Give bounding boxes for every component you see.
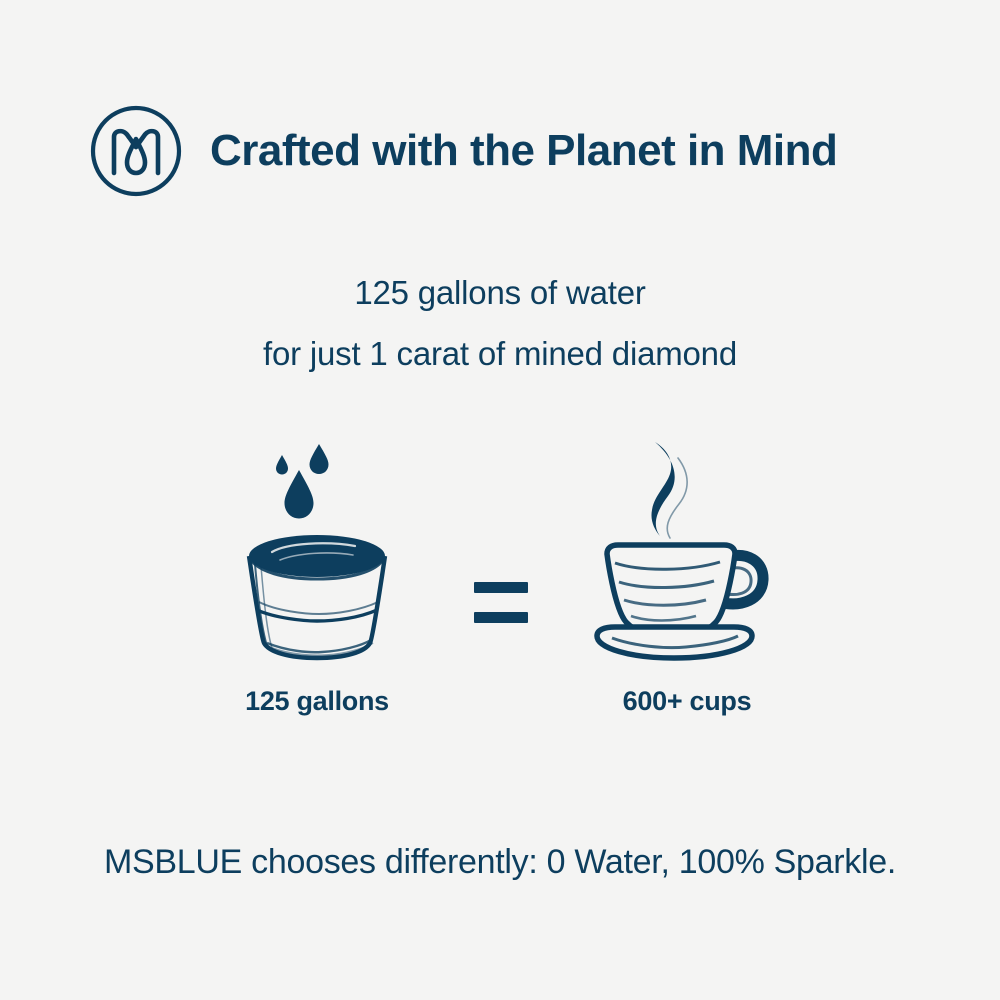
coffee-cup-icon bbox=[582, 430, 792, 670]
comparison-item-cups: 600+ cups bbox=[537, 430, 837, 730]
subtitle-block: 125 gallons of water for just 1 carat of… bbox=[0, 262, 1000, 384]
page-title: Crafted with the Planet in Mind bbox=[210, 129, 837, 173]
msblue-monogram-logo-icon bbox=[88, 103, 184, 199]
gallons-label: 125 gallons bbox=[245, 686, 389, 717]
equals-bar-top bbox=[474, 582, 528, 593]
footer-tagline: MSBLUE chooses differently: 0 Water, 100… bbox=[0, 843, 1000, 882]
water-bucket-icon bbox=[217, 430, 417, 670]
infographic-page: Crafted with the Planet in Mind 125 gall… bbox=[0, 0, 1000, 1000]
subtitle-line-2: for just 1 carat of mined diamond bbox=[0, 323, 1000, 384]
comparison-row: 125 gallons bbox=[0, 430, 1000, 730]
header: Crafted with the Planet in Mind bbox=[88, 103, 837, 199]
comparison-item-gallons: 125 gallons bbox=[167, 430, 467, 730]
cups-label: 600+ cups bbox=[623, 686, 752, 717]
equals-sign bbox=[474, 582, 528, 623]
subtitle-line-1: 125 gallons of water bbox=[0, 262, 1000, 323]
equals-bar-bottom bbox=[474, 612, 528, 623]
